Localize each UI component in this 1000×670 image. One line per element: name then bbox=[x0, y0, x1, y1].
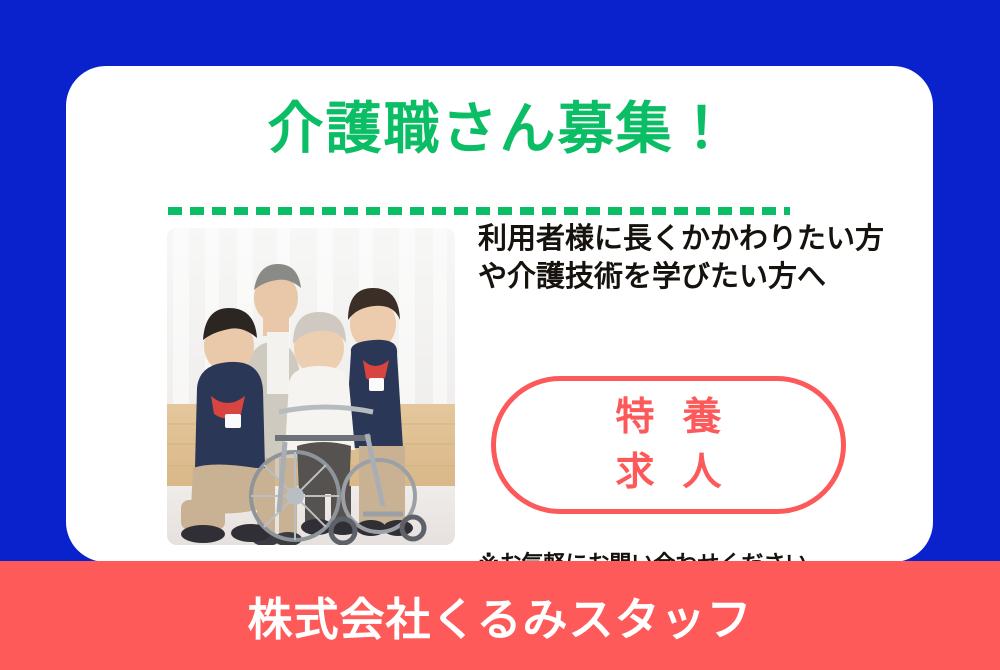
staff-photo bbox=[167, 228, 455, 545]
badge-line-1: 特養 bbox=[587, 390, 749, 445]
lead-text-line-1: 利用者様に長くかかわりたい方 bbox=[478, 221, 918, 259]
job-type-badge-inner: 特養 求人 bbox=[496, 381, 841, 509]
contact-note: ※お気軽にお問い合わせください。 bbox=[478, 546, 829, 562]
lead-text-line-2: や介護技術を学びたい方へ bbox=[478, 259, 918, 297]
dashed-divider bbox=[168, 207, 790, 215]
page-title: 介護職さん募集！ bbox=[66, 97, 933, 161]
staff-photo-illustration bbox=[167, 228, 455, 545]
job-type-badge: 特養 求人 bbox=[491, 376, 846, 514]
poster-root: 介護職さん募集！ bbox=[0, 0, 1000, 670]
content-card: 介護職さん募集！ bbox=[66, 66, 933, 562]
right-column: 利用者様に長くかかわりたい方 や介護技術を学びたい方へ 特養 求人 ※お気軽にお… bbox=[478, 221, 918, 296]
footer-band: 株式会社くるみスタッフ bbox=[0, 561, 1000, 670]
badge-line-2: 求人 bbox=[587, 445, 749, 500]
company-name: 株式会社くるみスタッフ bbox=[247, 583, 752, 648]
